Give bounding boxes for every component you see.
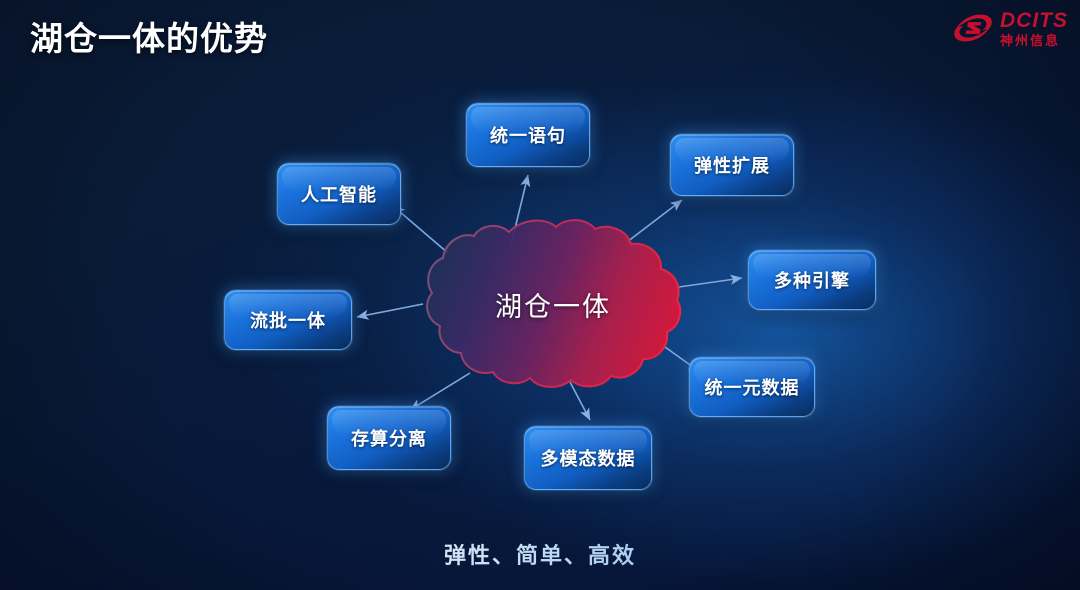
node-label: 弹性扩展 bbox=[694, 152, 770, 178]
dcits-swoosh-icon bbox=[952, 8, 994, 48]
node-box[interactable]: 多模态数据 bbox=[524, 426, 652, 490]
node-label: 人工智能 bbox=[301, 181, 377, 207]
node-box[interactable]: 统一元数据 bbox=[689, 357, 815, 417]
connector-arrow bbox=[357, 304, 423, 317]
cloud-label: 湖仓一体 bbox=[416, 218, 684, 390]
node-box[interactable]: 统一语句 bbox=[466, 103, 590, 167]
node-label: 存算分离 bbox=[351, 425, 427, 451]
node-label: 统一元数据 bbox=[705, 374, 800, 400]
node-label: 多模态数据 bbox=[541, 445, 636, 471]
center-cloud: 湖仓一体 bbox=[416, 218, 684, 390]
node-box[interactable]: 多种引擎 bbox=[748, 250, 876, 310]
brand-logo: DCITS 神州信息 bbox=[952, 8, 1068, 48]
diagram-canvas: 湖仓一体 统一语句弹性扩展多种引擎统一元数据多模态数据存算分离流批一体人工智能 bbox=[0, 0, 1080, 590]
node-label: 统一语句 bbox=[490, 122, 566, 148]
node-label: 多种引擎 bbox=[774, 267, 850, 293]
logo-wordmark: DCITS 神州信息 bbox=[1000, 10, 1068, 47]
node-box[interactable]: 流批一体 bbox=[224, 290, 352, 350]
logo-chinese-text: 神州信息 bbox=[1000, 34, 1068, 47]
node-label: 流批一体 bbox=[250, 307, 326, 333]
page-title: 湖仓一体的优势 bbox=[30, 12, 268, 60]
node-box[interactable]: 弹性扩展 bbox=[670, 134, 794, 196]
slide-caption: 弹性、简单、高效 bbox=[0, 538, 1080, 570]
node-box[interactable]: 存算分离 bbox=[327, 406, 451, 470]
logo-english-text: DCITS bbox=[1000, 10, 1068, 31]
node-box[interactable]: 人工智能 bbox=[277, 163, 401, 225]
slide-root: 湖仓一体的优势 DCITS 神州信息 bbox=[0, 0, 1080, 590]
